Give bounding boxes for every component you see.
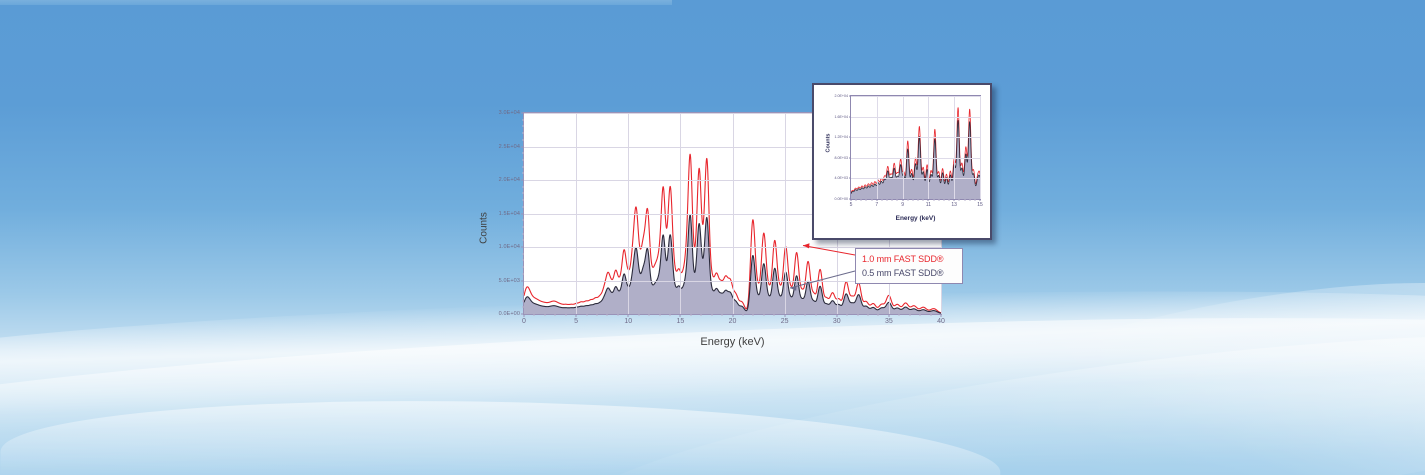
y-minor-tick xyxy=(522,307,524,308)
x-tick-mark xyxy=(876,199,877,201)
x-minor-tick xyxy=(722,314,723,316)
y-minor-tick xyxy=(522,173,524,174)
y-minor-tick xyxy=(522,186,524,187)
y-minor-tick xyxy=(522,200,524,201)
x-minor-tick xyxy=(930,314,931,316)
x-minor-tick xyxy=(669,314,670,316)
y-tick-mark xyxy=(521,213,524,214)
grid-line-horizontal xyxy=(851,137,980,138)
x-minor-tick xyxy=(899,314,900,316)
grid-line-vertical xyxy=(928,96,929,199)
y-tick-label: 8.0E+03 xyxy=(835,156,849,160)
x-minor-tick xyxy=(959,199,960,201)
y-minor-tick xyxy=(522,273,524,274)
x-tick-label: 15 xyxy=(977,202,983,208)
slide-canvas: Counts Energy (keV) 0.0E+005.0E+031.0E+0… xyxy=(0,0,1425,475)
background-wave-4 xyxy=(0,392,1002,475)
x-tick-label: 11 xyxy=(926,202,931,208)
inset-plot-area: 0.0E+004.0E+038.0E+031.2E+041.6E+042.0E+… xyxy=(850,95,981,200)
y-minor-tick xyxy=(522,139,524,140)
grid-line-vertical xyxy=(980,96,981,199)
x-tick-mark xyxy=(941,314,942,317)
x-minor-tick xyxy=(711,314,712,316)
y-minor-tick xyxy=(522,126,524,127)
x-tick-label: 0 xyxy=(522,318,526,325)
x-minor-tick xyxy=(878,314,879,316)
x-tick-label: 30 xyxy=(833,318,841,325)
y-minor-tick xyxy=(522,133,524,134)
y-minor-tick xyxy=(522,233,524,234)
x-minor-tick xyxy=(892,199,893,201)
x-minor-tick xyxy=(795,314,796,316)
y-minor-tick xyxy=(522,293,524,294)
inset-zoom-chart: Counts Energy (keV) 0.0E+004.0E+038.0E+0… xyxy=(812,83,992,240)
y-axis-title: Counts xyxy=(478,212,489,244)
x-tick-mark xyxy=(902,199,903,201)
grid-line-vertical xyxy=(785,113,786,314)
y-tick-mark xyxy=(849,157,851,158)
x-minor-tick xyxy=(974,199,975,201)
y-minor-tick xyxy=(522,220,524,221)
x-axis-title: Energy (keV) xyxy=(523,336,942,348)
x-minor-tick xyxy=(753,314,754,316)
x-minor-tick xyxy=(907,199,908,201)
x-minor-tick xyxy=(912,199,913,201)
x-minor-tick xyxy=(617,314,618,316)
grid-line-vertical xyxy=(903,96,904,199)
x-minor-tick xyxy=(805,314,806,316)
y-minor-tick xyxy=(522,159,524,160)
top-accent-strip xyxy=(0,0,672,5)
y-tick-label: 2.0E+04 xyxy=(499,177,520,183)
x-tick-label: 40 xyxy=(937,318,945,325)
y-tick-mark xyxy=(521,247,524,248)
y-minor-tick xyxy=(522,240,524,241)
y-tick-mark xyxy=(521,146,524,147)
x-tick-label: 13 xyxy=(951,202,957,208)
grid-line-vertical xyxy=(954,96,955,199)
y-minor-tick xyxy=(522,287,524,288)
y-minor-tick xyxy=(522,153,524,154)
y-tick-label: 2.5E+04 xyxy=(499,144,520,150)
y-tick-label: 5.0E+03 xyxy=(499,278,520,284)
y-tick-label: 1.6E+04 xyxy=(835,115,849,119)
x-minor-tick xyxy=(701,314,702,316)
x-minor-tick xyxy=(866,199,867,201)
legend-item-05mm: 0.5 mm FAST SDD® xyxy=(862,266,957,280)
x-tick-label: 15 xyxy=(676,318,684,325)
x-tick-mark xyxy=(888,314,889,317)
x-tick-mark xyxy=(680,314,681,317)
inset-x-axis-title: Energy (keV) xyxy=(850,215,981,222)
x-minor-tick xyxy=(887,199,888,201)
x-minor-tick xyxy=(565,314,566,316)
x-minor-tick xyxy=(969,199,970,201)
x-minor-tick xyxy=(856,199,857,201)
x-minor-tick xyxy=(534,314,535,316)
x-minor-tick xyxy=(774,314,775,316)
x-minor-tick xyxy=(938,199,939,201)
x-minor-tick xyxy=(649,314,650,316)
y-minor-tick xyxy=(522,260,524,261)
x-tick-label: 9 xyxy=(901,202,904,208)
y-tick-label: 4.0E+03 xyxy=(835,176,849,180)
y-minor-tick xyxy=(522,267,524,268)
grid-line-horizontal xyxy=(851,158,980,159)
y-minor-tick xyxy=(522,253,524,254)
y-tick-label: 2.0E+04 xyxy=(835,94,849,98)
x-tick-mark xyxy=(980,199,981,201)
x-minor-tick xyxy=(918,199,919,201)
x-tick-label: 25 xyxy=(781,318,789,325)
x-minor-tick xyxy=(933,199,934,201)
x-minor-tick xyxy=(544,314,545,316)
x-minor-tick xyxy=(868,314,869,316)
x-minor-tick xyxy=(690,314,691,316)
y-tick-mark xyxy=(521,280,524,281)
x-minor-tick xyxy=(881,199,882,201)
legend-item-1mm: 1.0 mm FAST SDD® xyxy=(862,252,957,266)
grid-line-horizontal xyxy=(851,96,980,97)
x-minor-tick xyxy=(909,314,910,316)
x-tick-mark xyxy=(576,314,577,317)
y-minor-tick xyxy=(522,206,524,207)
y-minor-tick xyxy=(522,119,524,120)
x-tick-label: 5 xyxy=(574,318,578,325)
x-minor-tick xyxy=(826,314,827,316)
y-tick-mark xyxy=(849,96,851,97)
x-minor-tick xyxy=(857,314,858,316)
x-minor-tick xyxy=(871,199,872,201)
x-minor-tick xyxy=(763,314,764,316)
x-minor-tick xyxy=(659,314,660,316)
x-tick-mark xyxy=(628,314,629,317)
x-minor-tick xyxy=(607,314,608,316)
y-minor-tick xyxy=(522,193,524,194)
y-minor-tick xyxy=(522,166,524,167)
y-tick-label: 3.0E+04 xyxy=(499,110,520,116)
x-tick-mark xyxy=(928,199,929,201)
x-minor-tick xyxy=(964,199,965,201)
x-tick-label: 35 xyxy=(885,318,893,325)
series-legend: 1.0 mm FAST SDD® 0.5 mm FAST SDD® xyxy=(855,248,963,284)
x-tick-mark xyxy=(732,314,733,317)
x-minor-tick xyxy=(920,314,921,316)
x-minor-tick xyxy=(586,314,587,316)
y-tick-label: 0.0E+00 xyxy=(499,311,520,317)
x-minor-tick xyxy=(923,199,924,201)
y-minor-tick xyxy=(522,226,524,227)
y-tick-mark xyxy=(849,116,851,117)
x-minor-tick xyxy=(555,314,556,316)
x-minor-tick xyxy=(897,199,898,201)
y-tick-mark xyxy=(521,180,524,181)
background-wave-5 xyxy=(927,248,1425,475)
y-tick-label: 1.5E+04 xyxy=(499,211,520,217)
y-minor-tick xyxy=(522,300,524,301)
y-tick-mark xyxy=(849,178,851,179)
grid-line-horizontal xyxy=(851,178,980,179)
x-minor-tick xyxy=(861,199,862,201)
x-tick-label: 10 xyxy=(624,318,632,325)
grid-line-vertical xyxy=(628,113,629,314)
y-tick-label: 0.0E+00 xyxy=(835,197,849,201)
x-minor-tick xyxy=(596,314,597,316)
x-minor-tick xyxy=(638,314,639,316)
grid-line-vertical xyxy=(680,113,681,314)
inset-spectrum-svg xyxy=(851,96,980,199)
y-tick-label: 1.0E+04 xyxy=(499,244,520,250)
y-tick-mark xyxy=(521,113,524,114)
x-minor-tick xyxy=(949,199,950,201)
x-minor-tick xyxy=(742,314,743,316)
y-tick-mark xyxy=(849,137,851,138)
x-tick-label: 20 xyxy=(729,318,737,325)
grid-line-horizontal xyxy=(851,117,980,118)
grid-line-vertical xyxy=(733,113,734,314)
x-tick-mark xyxy=(524,314,525,317)
x-tick-mark xyxy=(954,199,955,201)
y-tick-label: 1.2E+04 xyxy=(835,135,849,139)
x-minor-tick xyxy=(847,314,848,316)
x-tick-label: 7 xyxy=(875,202,878,208)
x-tick-label: 5 xyxy=(850,202,853,208)
grid-line-vertical xyxy=(877,96,878,199)
x-tick-mark xyxy=(851,199,852,201)
x-minor-tick xyxy=(943,199,944,201)
grid-line-vertical xyxy=(576,113,577,314)
x-minor-tick xyxy=(815,314,816,316)
x-tick-mark xyxy=(836,314,837,317)
x-tick-mark xyxy=(784,314,785,317)
inset-y-axis-title: Counts xyxy=(825,134,831,153)
